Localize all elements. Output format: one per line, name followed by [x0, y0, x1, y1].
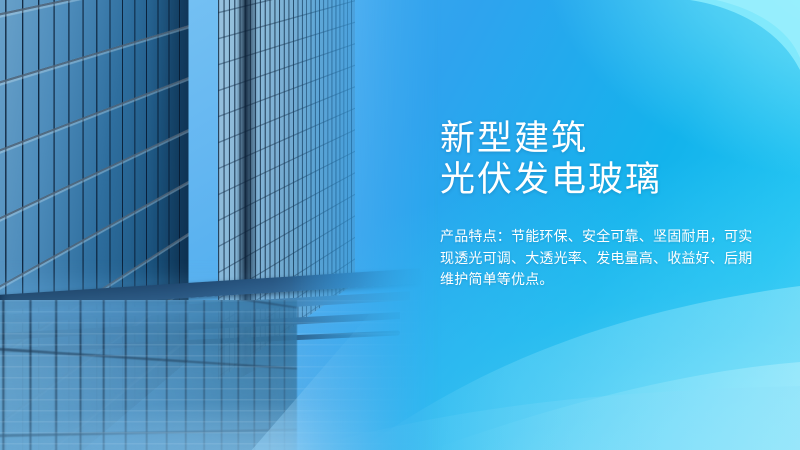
product-features-text: 产品特点：节能环保、安全可靠、坚固耐用，可实现透光可调、大透光率、发电量高、收益… [440, 226, 762, 291]
title-line-1: 新型建筑 [440, 118, 770, 159]
product-banner: 新型建筑 光伏发电玻璃 产品特点：节能环保、安全可靠、坚固耐用，可实现透光可调、… [0, 0, 800, 450]
building-photo [0, 0, 470, 450]
text-block: 新型建筑 光伏发电玻璃 产品特点：节能环保、安全可靠、坚固耐用，可实现透光可调、… [440, 118, 770, 291]
photo-blend-fade [0, 0, 470, 450]
title-line-2: 光伏发电玻璃 [440, 159, 770, 200]
